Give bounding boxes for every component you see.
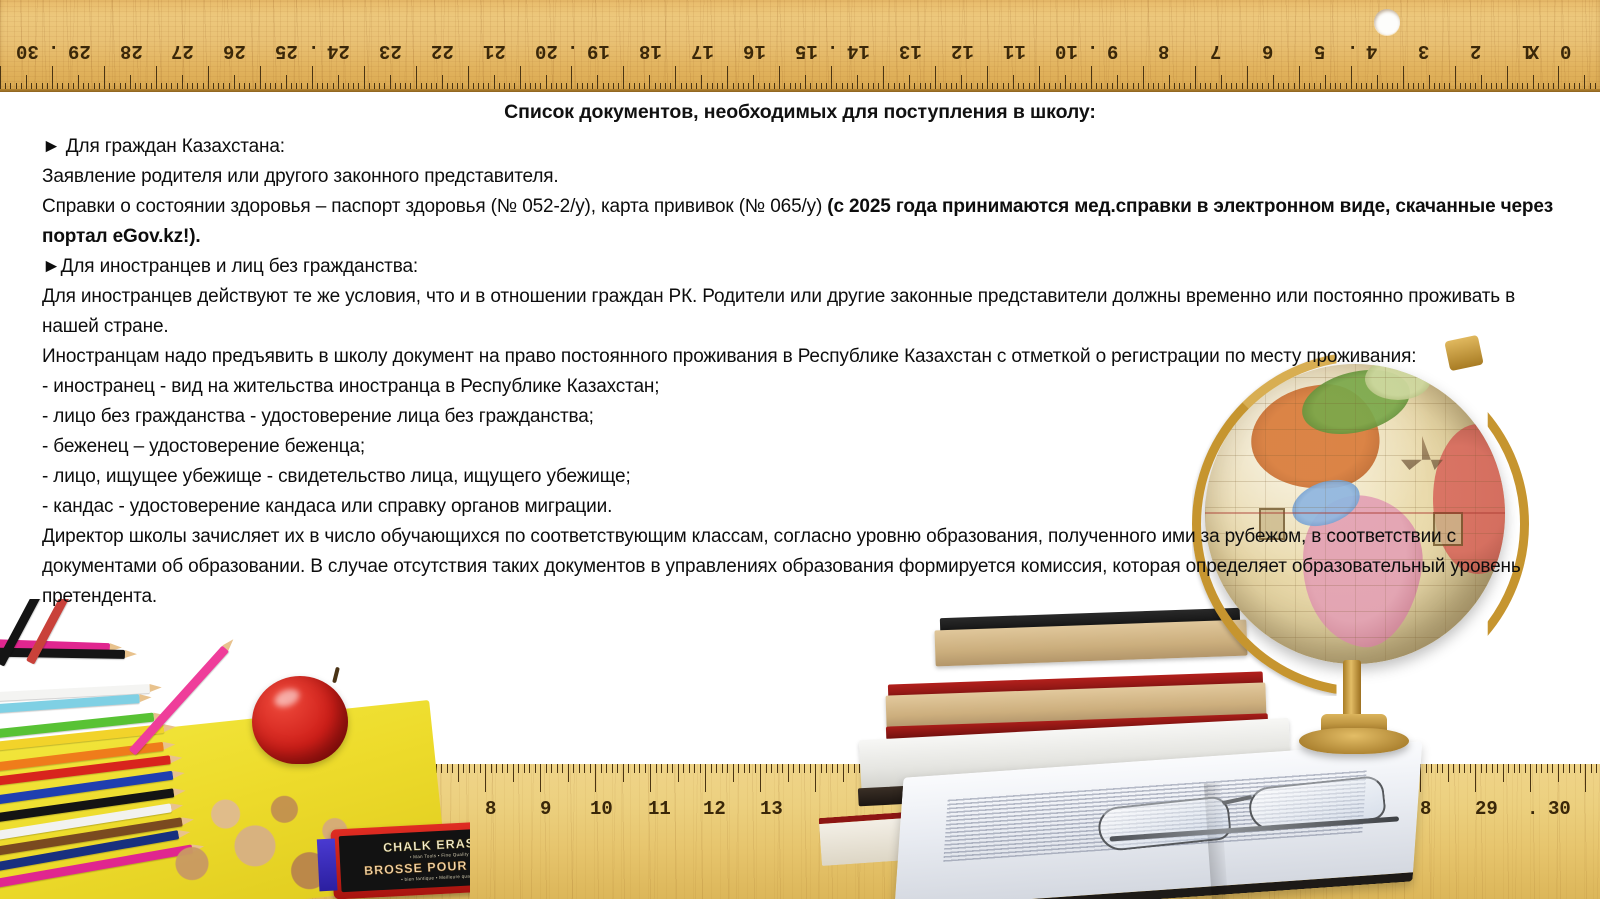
health-cert-normal: Справки о состоянии здоровья – паспорт з… — [42, 196, 827, 217]
ruler-number: 14 — [847, 40, 870, 62]
ruler-tick-half — [513, 764, 514, 782]
ruler-number: 28 — [120, 40, 143, 62]
ruler-tick-minor — [711, 764, 712, 773]
ruler-tick-half — [623, 764, 624, 782]
ruler-tick-major — [650, 764, 651, 792]
ruler-tick-minor — [716, 764, 717, 773]
ruler-number: 12 — [703, 798, 726, 820]
ruler-tick-minor — [749, 764, 750, 773]
slide-root: 30.2928272625.2423222120.1918171615.1413… — [0, 0, 1600, 899]
ruler-dot: . — [827, 40, 838, 62]
ruler-tick-major — [595, 764, 596, 792]
ruler-tick-minor — [551, 764, 552, 773]
ruler-tick-minor — [771, 764, 772, 773]
ruler-tick-minor — [562, 764, 563, 773]
paragraph-director-enrollment: Директор школы зачисляет их в число обуч… — [42, 522, 1574, 612]
paragraph-foreigners-heading: ►Для иностранцев и лиц без гражданства: — [42, 252, 1574, 282]
ruler-number: 13 — [899, 40, 922, 62]
ruler-tick-minor — [832, 764, 833, 773]
ruler-tick-major — [485, 764, 486, 792]
ruler-tick-major — [705, 764, 706, 792]
ruler-number: 22 — [431, 40, 454, 62]
ruler-x-mark: X — [1528, 40, 1539, 62]
ruler-number: 11 — [648, 798, 671, 820]
ruler-tick-minor — [661, 764, 662, 773]
ruler-number: 9 — [540, 798, 551, 820]
ruler-number: 25 — [275, 40, 298, 62]
ruler-tick-half — [733, 764, 734, 782]
ruler-dot: . — [567, 40, 578, 62]
ruler-number: 30 — [16, 40, 39, 62]
ruler-tick-minor — [722, 764, 723, 773]
ruler-tick-minor — [612, 764, 613, 773]
glasses-lens-left — [1096, 795, 1232, 853]
ruler-number: 13 — [760, 798, 783, 820]
ruler-tick-minor — [645, 764, 646, 773]
ruler-tick-major — [760, 764, 761, 792]
list-item-asylum-seeker: - лицо, ищущее убежище - свидетельство л… — [42, 462, 1574, 492]
paragraph-application: Заявление родителя или другого законного… — [42, 162, 1574, 192]
ruler-tick-minor — [546, 764, 547, 773]
ruler-number: 10 — [1055, 40, 1078, 62]
paragraph-residence-document: Иностранцам надо предъявить в школу доку… — [42, 342, 1574, 372]
ruler-tick-minor — [535, 764, 536, 773]
ruler-number: 16 — [743, 40, 766, 62]
ruler-number: 9 — [1107, 40, 1118, 62]
ruler-tick-minor — [656, 764, 657, 773]
ruler-dot: . — [48, 40, 59, 62]
ruler-tick-major — [815, 764, 816, 792]
ruler-tick-minor — [474, 764, 475, 773]
ruler-tick-minor — [694, 764, 695, 773]
ruler-number: 17 — [691, 40, 714, 62]
ruler-number: 7 — [1210, 40, 1221, 62]
ruler-tick-minor — [557, 764, 558, 773]
ruler-number: 2 — [1470, 40, 1481, 62]
ruler-tick-minor — [799, 764, 800, 773]
list-item-kandas: - кандас - удостоверение кандаса или спр… — [42, 492, 1574, 522]
ruler-tick-minor — [683, 764, 684, 773]
paragraph-foreigners-conditions: Для иностранцев действуют те же условия,… — [42, 282, 1574, 342]
ruler-tick-half — [678, 764, 679, 782]
ruler-number: 26 — [223, 40, 246, 62]
ruler-tick-minor — [744, 764, 745, 773]
ruler-tick-minor — [689, 764, 690, 773]
ruler-number: 4 — [1366, 40, 1377, 62]
ruler-tick-minor — [810, 764, 811, 773]
ruler-tick-major — [540, 764, 541, 792]
ruler-tick-minor — [667, 764, 668, 773]
ruler-tick-minor — [496, 764, 497, 773]
ruler-tick-minor — [628, 764, 629, 773]
chalk-eraser-label: CHALK ERASER • Man Tools • Fine Quality … — [339, 826, 470, 892]
ruler-tick-minor — [480, 764, 481, 773]
ruler-tick-minor — [502, 764, 503, 773]
ruler-number: 27 — [171, 40, 194, 62]
ruler-tick-minor — [529, 764, 530, 773]
paragraph-health-certificates: Справки о состоянии здоровья – паспорт з… — [42, 192, 1574, 252]
red-apple — [252, 676, 348, 764]
ruler-tick-minor — [601, 764, 602, 773]
ruler-tick-minor — [579, 764, 580, 773]
paragraph-citizens-heading: ► Для граждан Казахстана: — [42, 132, 1574, 162]
top-ruler: 30.2928272625.2423222120.1918171615.1413… — [0, 0, 1600, 92]
ruler-number: 20 — [535, 40, 558, 62]
globe-base — [1299, 728, 1409, 754]
ruler-tick-minor — [777, 764, 778, 773]
ruler-number: 3 — [1418, 40, 1429, 62]
ruler-number: 21 — [483, 40, 506, 62]
ruler-tick-minor — [617, 764, 618, 773]
ruler-tick-minor — [793, 764, 794, 773]
ruler-tick-minor — [826, 764, 827, 773]
ruler-tick-minor — [524, 764, 525, 773]
top-ruler-numbers: 30.2928272625.2423222120.1918171615.1413… — [0, 36, 1600, 62]
list-item-stateless: - лицо без гражданства - удостоверение л… — [42, 402, 1574, 432]
ruler-tick-minor — [755, 764, 756, 773]
ruler-tick-minor — [700, 764, 701, 773]
ruler-tick-minor — [738, 764, 739, 773]
ruler-number: 18 — [639, 40, 662, 62]
top-ruler-ticks — [0, 62, 1600, 92]
ruler-number: 10 — [590, 798, 613, 820]
ruler-number: 12 — [951, 40, 974, 62]
ruler-hanging-hole — [1374, 9, 1400, 35]
glasses-bridge — [1222, 795, 1252, 805]
document-body: ► Для граждан Казахстана: Заявление роди… — [0, 132, 1600, 612]
ruler-tick-minor — [590, 764, 591, 773]
chalk-eraser: CHALK ERASER • Man Tools • Fine Quality … — [330, 818, 470, 899]
ruler-tick-minor — [766, 764, 767, 773]
ruler-number: 8 — [1158, 40, 1169, 62]
document-content: Список документов, необходимых для посту… — [0, 92, 1600, 612]
ruler-tick-half — [788, 764, 789, 782]
ruler-number: 6 — [1262, 40, 1273, 62]
ruler-number: 15 — [795, 40, 818, 62]
pencils-and-apple-illustration: CHALK ERASER • Man Tools • Fine Quality … — [0, 599, 470, 899]
ruler-tick-minor — [634, 764, 635, 773]
ruler-tick-minor — [507, 764, 508, 773]
ruler-zero-mark: 0 — [1560, 40, 1571, 62]
ruler-tick-minor — [782, 764, 783, 773]
ruler-dot: . — [1347, 40, 1358, 62]
ruler-tick-half — [568, 764, 569, 782]
list-item-refugee: - беженец – удостоверение беженца; — [42, 432, 1574, 462]
list-item-foreigner: - иностранец - вид на жительства иностра… — [42, 372, 1574, 402]
ruler-tick-minor — [821, 764, 822, 773]
ruler-number: 5 — [1314, 40, 1325, 62]
ruler-tick-minor — [639, 764, 640, 773]
pencil-black-1 — [0, 647, 125, 659]
ruler-number: 11 — [1003, 40, 1026, 62]
ruler-tick-minor — [584, 764, 585, 773]
ruler-number: 24 — [327, 40, 350, 62]
ruler-tick-minor — [606, 764, 607, 773]
ruler-tick-minor — [727, 764, 728, 773]
ruler-dot: . — [308, 40, 319, 62]
ruler-tick-minor — [491, 764, 492, 773]
ruler-tick-minor — [804, 764, 805, 773]
ruler-number: 19 — [587, 40, 610, 62]
page-title: Список документов, необходимых для посту… — [0, 101, 1600, 124]
ruler-tick-minor — [573, 764, 574, 773]
ruler-tick-minor — [518, 764, 519, 773]
ruler-number: 23 — [379, 40, 402, 62]
ruler-number: 8 — [485, 798, 496, 820]
ruler-tick-minor — [837, 764, 838, 773]
ruler-number: 29 — [68, 40, 91, 62]
ruler-tick-minor — [672, 764, 673, 773]
ruler-dot: . — [1087, 40, 1098, 62]
